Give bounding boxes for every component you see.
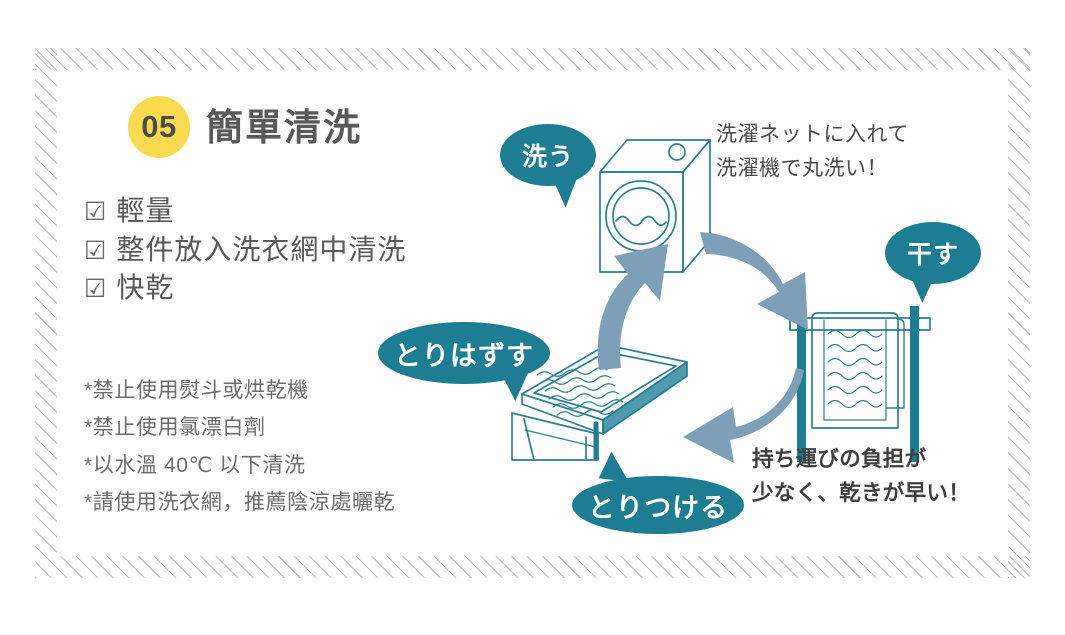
section-heading: 05 簡單清洗 — [128, 96, 362, 158]
speech-bubble-dry: 干す — [885, 222, 981, 284]
list-item-label: 輕量 — [116, 192, 174, 231]
hatch-band-left — [35, 48, 57, 578]
caption-dry-line2: 少なく、乾きが早い！ — [752, 476, 970, 510]
speech-bubble-tail — [599, 451, 632, 482]
speech-bubble-wash-label: 洗う — [522, 137, 574, 173]
speech-bubble-remove: とりはずす — [378, 322, 550, 384]
caption-wash-line1: 洗濯ネットに入れて — [716, 118, 909, 152]
page-title: 簡單清洗 — [206, 109, 362, 146]
note-line: *請使用洗衣網，推薦陰涼處曬乾 — [84, 484, 514, 521]
speech-bubble-dry-label: 干す — [907, 235, 959, 271]
list-item-label: 快乾 — [116, 269, 174, 308]
speech-bubble-tail — [501, 367, 537, 403]
checkbox-checked-icon: ☑ — [84, 239, 107, 264]
poster-canvas: 05 簡單清洗 ☑ 輕量 ☑ 整件放入洗衣網中清洗 ☑ 快乾 *禁止使用熨斗或烘… — [0, 0, 1065, 635]
caption-wash: 洗濯ネットに入れて 洗濯機で丸洗い！ — [716, 118, 909, 186]
care-notes: *禁止使用熨斗或烘乾機 *禁止使用氯漂白劑 *以水溫 40℃ 以下清洗 *請使用… — [84, 372, 514, 522]
speech-bubble-tail — [552, 172, 585, 209]
hatch-band-top — [35, 48, 1030, 70]
checkbox-checked-icon: ☑ — [84, 277, 107, 302]
caption-dry-line1: 持ち運びの負担が — [752, 442, 970, 476]
note-line: *禁止使用氯漂白劑 — [84, 409, 514, 446]
note-line: *以水溫 40℃ 以下清洗 — [84, 447, 514, 484]
caption-wash-line2: 洗濯機で丸洗い！ — [716, 152, 909, 186]
speech-bubble-tail — [903, 270, 936, 304]
list-item: ☑ 輕量 — [84, 192, 484, 231]
speech-bubble-attach-label: とりつける — [588, 486, 728, 525]
feature-checklist: ☑ 輕量 ☑ 整件放入洗衣網中清洗 ☑ 快乾 — [84, 192, 484, 308]
caption-dry: 持ち運びの負担が 少なく、乾きが早い！ — [752, 442, 970, 511]
speech-bubble-remove-label: とりはずす — [394, 334, 534, 373]
list-item: ☑ 整件放入洗衣網中清洗 — [84, 231, 484, 270]
section-number-badge: 05 — [128, 96, 190, 158]
list-item: ☑ 快乾 — [84, 269, 484, 308]
speech-bubble-attach: とりつける — [572, 476, 744, 534]
checkbox-checked-icon: ☑ — [84, 200, 107, 225]
list-item-label: 整件放入洗衣網中清洗 — [116, 231, 406, 270]
hatch-band-bottom — [35, 556, 1030, 578]
hatch-band-right — [1008, 48, 1030, 578]
speech-bubble-wash: 洗う — [500, 124, 596, 186]
